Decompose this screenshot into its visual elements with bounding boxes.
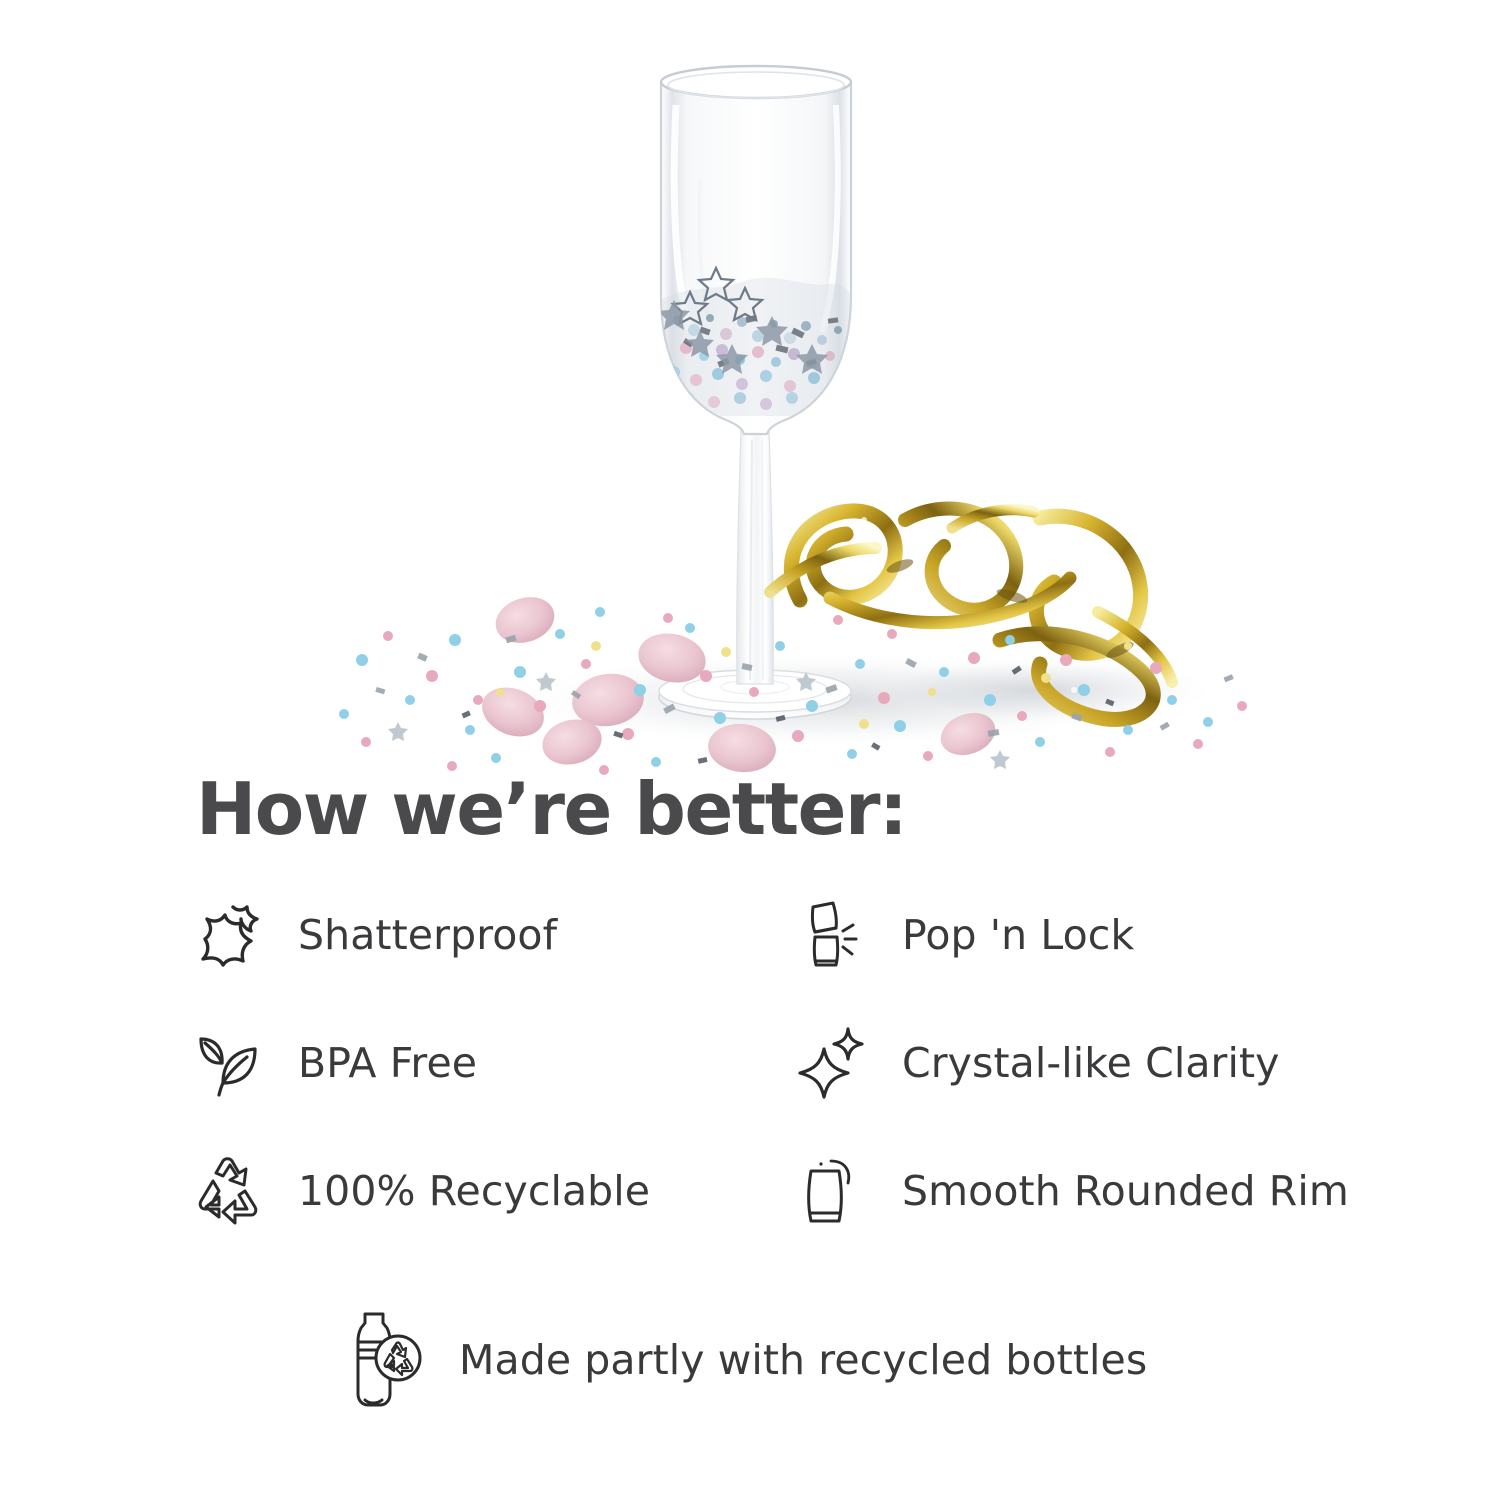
feature-label: Made partly with recycled bottles — [459, 1336, 1147, 1384]
feature-row: BPA Free Crystal-like Clarity — [0, 1008, 1500, 1136]
feature-shatterproof: Shatterproof — [186, 880, 557, 990]
feature-grid: Shatterproof Pop 'n Lock — [0, 880, 1500, 1264]
recycle-triangle-icon — [186, 1148, 272, 1234]
page-title: How we’re better: — [196, 773, 906, 845]
glass-stem — [737, 430, 774, 684]
product-photo — [0, 0, 1500, 790]
feature-crystal-clarity: Crystal-like Clarity — [790, 1008, 1280, 1118]
tumbler-rim-icon — [790, 1148, 876, 1234]
recycled-bottle-icon — [337, 1306, 429, 1414]
sparkle-icon — [790, 1020, 876, 1106]
leaf-sprout-icon — [186, 1020, 272, 1106]
product-infographic: How we’re better: Shatterproof — [0, 0, 1500, 1500]
glass-bowl — [658, 66, 851, 434]
feature-label: 100% Recyclable — [298, 1167, 650, 1215]
feature-label: Shatterproof — [298, 911, 557, 959]
feature-recyclable: 100% Recyclable — [186, 1136, 650, 1246]
feature-row: Shatterproof Pop 'n Lock — [0, 880, 1500, 1008]
feature-recycled-bottles: Made partly with recycled bottles — [337, 1300, 1147, 1420]
feature-bpa-free: BPA Free — [186, 1008, 477, 1118]
feature-pop-n-lock: Pop 'n Lock — [790, 880, 1134, 990]
confetti-in-glass — [658, 268, 851, 420]
feature-row: 100% Recyclable Smooth Rounded Rim — [0, 1136, 1500, 1264]
feature-label: Smooth Rounded Rim — [902, 1167, 1349, 1215]
feature-label: BPA Free — [298, 1039, 477, 1087]
feature-label: Pop 'n Lock — [902, 911, 1134, 959]
pop-lock-glass-icon — [790, 892, 876, 978]
feature-smooth-rim: Smooth Rounded Rim — [790, 1136, 1349, 1246]
shatter-burst-icon — [186, 892, 272, 978]
product-photo-illustration — [0, 0, 1500, 790]
feature-label: Crystal-like Clarity — [902, 1039, 1280, 1087]
